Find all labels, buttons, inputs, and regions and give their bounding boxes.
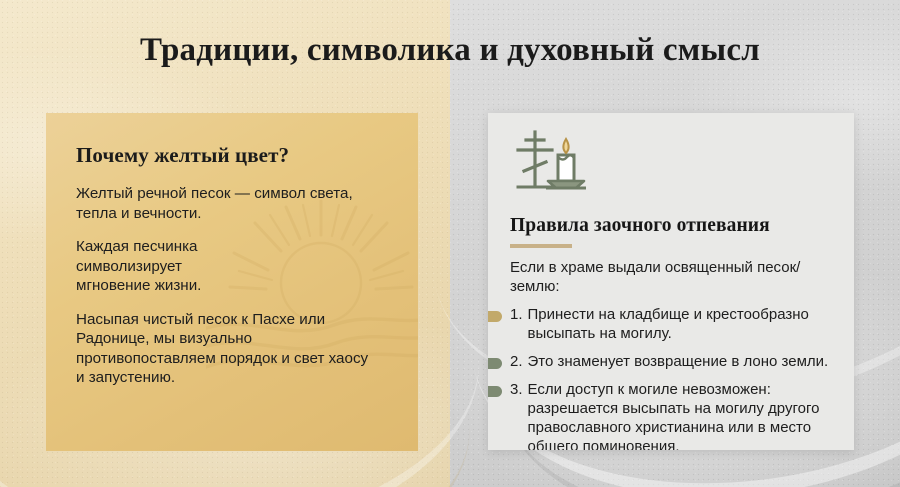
rule-number-3: 3.	[510, 380, 523, 399]
rule-number-1: 1.	[510, 305, 523, 324]
rule-text-1: Принести на кладбище и крестообразно выс…	[528, 305, 834, 343]
slide-root: Традиции, символика и духовный смысл	[0, 0, 900, 487]
right-card-intro-text: Если в храме выдали освященный песок/зем…	[510, 258, 830, 296]
rule-text-2: Это знаменует возвращение в лоно земли.	[528, 352, 829, 371]
heading-underline-accent	[510, 244, 572, 248]
slide-title: Традиции, символика и духовный смысл	[0, 32, 900, 69]
rule-text-3: Если доступ к могиле невозможен: разреша…	[528, 380, 834, 450]
rule-number-2: 2.	[510, 352, 523, 371]
left-card-paragraph-3: Насыпая чистый песок к Пасхе или Радониц…	[76, 310, 372, 388]
left-card-heading: Почему желтый цвет?	[76, 143, 392, 168]
left-card-paragraph-2: Каждая песчинка символизирует мгновение …	[76, 237, 251, 296]
list-item: 2. Это знаменует возвращение в лоно земл…	[510, 352, 838, 371]
right-card-heading: Правила заочного отпевания	[510, 215, 838, 237]
left-card-paragraph-1: Желтый речной песок — символ света, тепл…	[76, 184, 372, 223]
bullet-marker-3	[488, 386, 502, 397]
list-item: 1. Принести на кладбище и крестообразно …	[510, 305, 838, 343]
left-content-card: Почему желтый цвет? Желтый речной песок …	[46, 113, 418, 451]
rules-list: 1. Принести на кладбище и крестообразно …	[510, 305, 838, 450]
bullet-marker-1	[488, 311, 502, 322]
right-content-card: Правила заочного отпевания Если в храме …	[488, 113, 854, 450]
orthodox-cross-and-candle-icon	[510, 127, 596, 193]
list-item: 3. Если доступ к могиле невозможен: разр…	[510, 380, 838, 450]
left-card-body: Почему желтый цвет? Желтый речной песок …	[46, 113, 418, 388]
bullet-marker-2	[488, 358, 502, 369]
right-card-body: Правила заочного отпевания Если в храме …	[488, 113, 854, 450]
